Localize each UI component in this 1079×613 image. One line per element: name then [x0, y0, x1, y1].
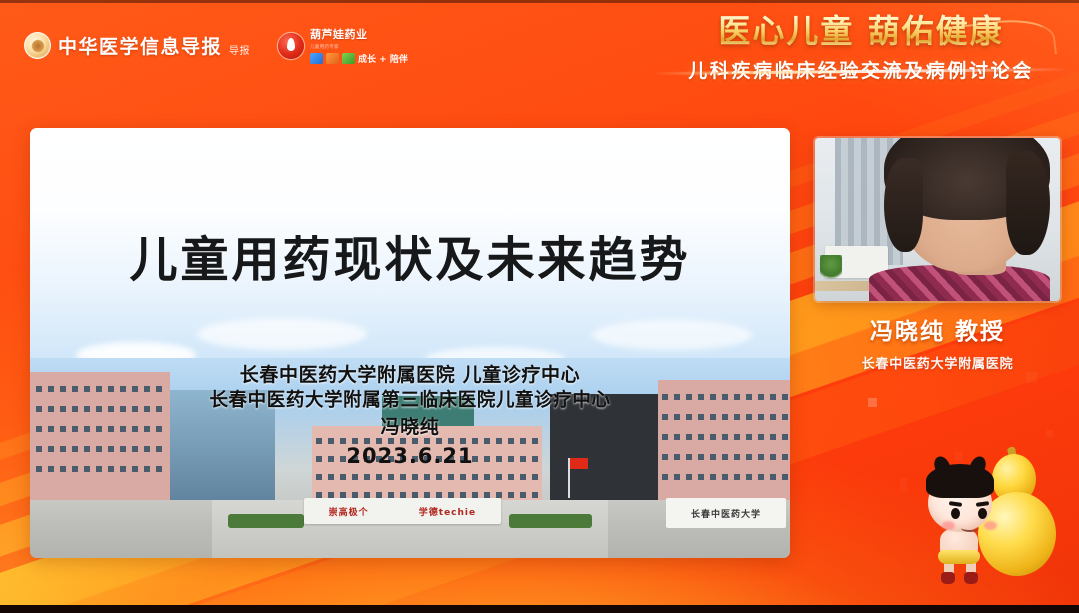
campus-hedge — [509, 514, 593, 528]
mascot-boot — [964, 572, 978, 584]
slide-title: 儿童用药现状及未来趋势 — [30, 220, 790, 290]
mascot-hair — [926, 464, 994, 498]
mascot-cheek — [984, 521, 997, 530]
header-logos: 中华医学信息导报 导报 葫芦娃药业 儿童用药专家 成长 + 陪伴 — [24, 26, 408, 65]
sparkle — [868, 398, 877, 407]
logo-sponsor-text: 葫芦娃药业 儿童用药专家 成长 + 陪伴 — [310, 26, 408, 65]
logo-sponsor-tagline: 儿童用药专家 — [310, 44, 408, 50]
mascot-boy-icon — [918, 462, 1004, 580]
mascot-cheek — [942, 521, 955, 530]
mascot-brow — [949, 501, 962, 507]
video-plant — [820, 255, 842, 281]
campus-hedge — [228, 514, 304, 528]
logo-sponsor-sub-label: 成长 + 陪伴 — [358, 52, 408, 65]
slide-subtitle-block: 长春中医药大学附属医院 儿童诊疗中心 长春中医药大学附属第三临床医院儿童诊疗中心… — [30, 362, 790, 471]
cma-seal-icon — [24, 32, 51, 59]
speaker-caption: 冯晓纯 教授 长春中医药大学附属医院 — [815, 312, 1060, 372]
chip-blue-icon — [310, 53, 323, 64]
broadcast-stage: 中华医学信息导报 导报 葫芦娃药业 儿童用药专家 成长 + 陪伴 医心儿童 葫佑… — [0, 0, 1079, 613]
gourd-drop-icon — [278, 33, 304, 59]
sparkle — [1026, 372, 1037, 383]
sparkle — [900, 478, 907, 492]
speaker-name: 冯晓纯 教授 — [815, 312, 1060, 346]
mascot-hair-tuft — [931, 454, 954, 480]
campus-sign-left-text: 崇高极个 — [329, 505, 369, 518]
slide-affiliation-line-1: 长春中医药大学附属医院 儿童诊疗中心 — [30, 362, 790, 388]
calabash-boy-mascot — [912, 440, 1062, 590]
campus-gate-sign-text: 长春中医药大学 — [691, 507, 761, 520]
logo-sponsor[interactable]: 葫芦娃药业 儿童用药专家 成长 + 陪伴 — [278, 26, 408, 65]
mascot-boot — [941, 572, 955, 584]
mascot-smile — [961, 524, 979, 532]
logo-sponsor-name: 葫芦娃药业 — [310, 26, 408, 42]
slide-presenter: 冯晓纯 — [30, 414, 790, 440]
mascot-eye — [978, 508, 987, 519]
logo-primary-suffix: 导报 — [229, 42, 250, 59]
mascot-leaf-skirt — [938, 550, 980, 564]
mascot-eye — [951, 508, 960, 519]
campus-gate-sign: 长春中医药大学 — [666, 498, 786, 528]
presentation-slide[interactable]: 儿童用药现状及未来趋势 长春中医药大学附属医院 儿童诊疗中心 长春中医药大学附属… — [30, 128, 790, 558]
speaker-video-panel[interactable] — [815, 138, 1060, 301]
logo-primary-name: 中华医学信息导报 — [58, 32, 222, 59]
mascot-brow — [976, 501, 989, 507]
chip-orange-icon — [326, 53, 339, 64]
letterbox-top — [0, 0, 1079, 3]
slide-affiliation-line-2: 长春中医药大学附属第三临床医院儿童诊疗中心 — [30, 388, 790, 414]
video-speaker-hair-side — [1006, 151, 1050, 255]
speaker-organization: 长春中医药大学附属医院 — [815, 353, 1060, 372]
chip-green-icon — [342, 53, 355, 64]
sparkle — [1046, 430, 1054, 438]
logo-chinese-medical-association[interactable]: 中华医学信息导报 导报 — [24, 32, 250, 59]
slide-date: 2023.6.21 — [30, 442, 790, 471]
campus-sign-right-text: 学德techie — [419, 505, 476, 518]
letterbox-bottom — [0, 605, 1079, 613]
event-subtitle: 儿科疾病临床经验交流及病例讨论会 — [661, 56, 1061, 83]
event-title: 医心儿童 葫佑健康 — [661, 14, 1061, 50]
logo-sponsor-chips: 成长 + 陪伴 — [310, 52, 408, 65]
event-banner: 医心儿童 葫佑健康 儿科疾病临床经验交流及病例讨论会 — [661, 14, 1061, 83]
video-speaker-hair-side — [884, 158, 923, 253]
campus-sign-wall: 崇高极个 学德techie — [304, 498, 502, 524]
